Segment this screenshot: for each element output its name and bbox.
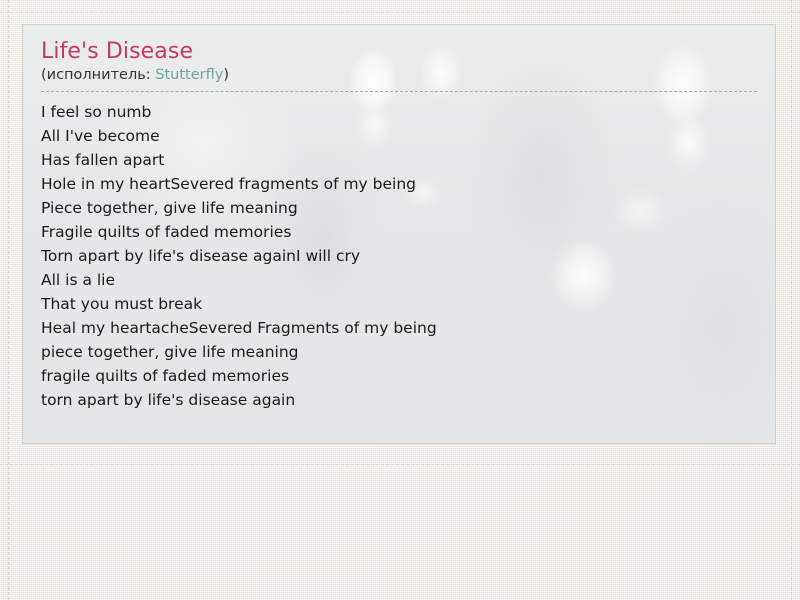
song-byline: (исполнитель: Stutterfly) — [41, 66, 757, 85]
page-divider-right — [791, 0, 792, 600]
artist-link[interactable]: Stutterfly — [155, 67, 223, 83]
lyrics-text: I feel so numbAll I've becomeHas fallen … — [41, 100, 757, 412]
lyric-line: Torn apart by life's disease againI will… — [41, 244, 757, 268]
lyric-line: I feel so numb — [41, 100, 757, 124]
lyric-line: All I've become — [41, 124, 757, 148]
page-divider-bottom — [0, 464, 800, 465]
title-divider — [41, 91, 757, 92]
lyric-line: Fragile quilts of faded memories — [41, 220, 757, 244]
song-title: Life's Disease — [41, 39, 757, 65]
lyric-line: Heal my heartacheSevered Fragments of my… — [41, 316, 757, 340]
lyric-line: All is a lie — [41, 268, 757, 292]
lyric-line: That you must break — [41, 292, 757, 316]
lyric-line: fragile quilts of faded memories — [41, 364, 757, 388]
lyric-line: piece together, give life meaning — [41, 340, 757, 364]
lyric-line: Hole in my heartSevered fragments of my … — [41, 172, 757, 196]
lyrics-panel: Life's Disease (исполнитель: Stutterfly)… — [22, 24, 776, 444]
panel-content: Life's Disease (исполнитель: Stutterfly)… — [23, 25, 775, 412]
lyric-line: torn apart by life's disease again — [41, 388, 757, 412]
page-divider-left — [8, 0, 9, 600]
lyric-line: Has fallen apart — [41, 148, 757, 172]
byline-prefix-label: (исполнитель: — [41, 67, 155, 83]
byline-suffix-label: ) — [223, 67, 229, 83]
page-divider-top — [0, 12, 800, 13]
lyric-line: Piece together, give life meaning — [41, 196, 757, 220]
